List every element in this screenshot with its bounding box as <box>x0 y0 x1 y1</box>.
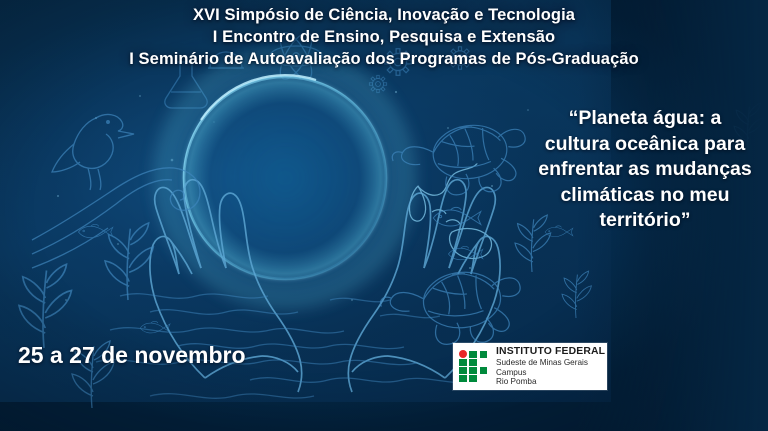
logo-campus-name: Rio Pomba <box>496 377 605 386</box>
logo-institution-name: INSTITUTO FEDERAL <box>496 346 605 358</box>
institution-logo-text: INSTITUTO FEDERAL Sudeste de Minas Gerai… <box>496 346 605 386</box>
event-title-line-1: XVI Simpósio de Ciência, Inovação e Tecn… <box>0 4 768 26</box>
event-date: 25 a 27 de novembro <box>18 341 246 369</box>
event-title-line-3: I Seminário de Autoavaliação dos Program… <box>0 48 768 70</box>
logo-region: Sudeste de Minas Gerais <box>496 358 605 367</box>
event-banner: XVI Simpósio de Ciência, Inovação e Tecn… <box>0 0 768 431</box>
event-title-block: XVI Simpósio de Ciência, Inovação e Tecn… <box>0 4 768 70</box>
theme-quote: “Planeta água: a cultura oceânica para e… <box>536 106 754 234</box>
if-logo-mark-icon <box>459 350 489 383</box>
logo-campus-label: Campus <box>496 368 605 377</box>
event-title-line-2: I Encontro de Ensino, Pesquisa e Extensã… <box>0 26 768 48</box>
institution-logo: INSTITUTO FEDERAL Sudeste de Minas Gerai… <box>453 343 607 390</box>
